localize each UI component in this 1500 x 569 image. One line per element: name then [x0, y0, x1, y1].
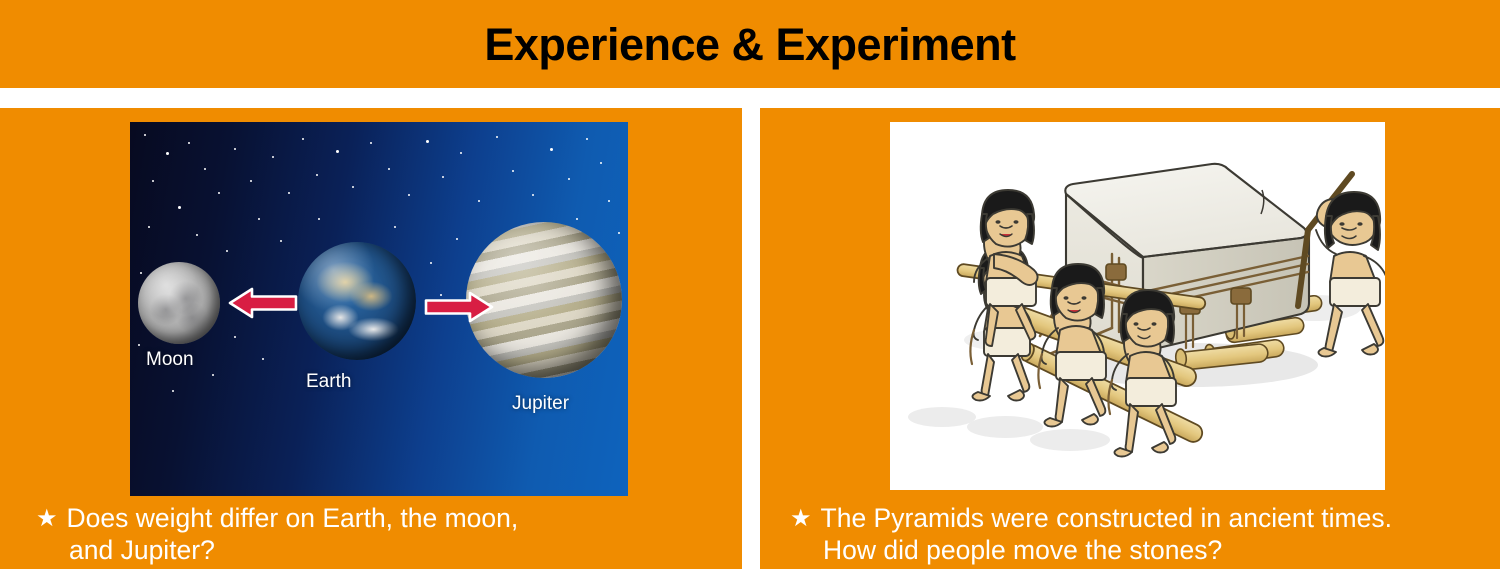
earth-to-moon-arrow [226, 284, 300, 322]
jupiter-label: Jupiter [512, 394, 569, 413]
pyramid-caption-line1: The Pyramids were constructed in ancient… [821, 503, 1392, 533]
moon-graphic [138, 262, 220, 344]
pyramid-caption: ★The Pyramids were constructed in ancien… [790, 502, 1480, 567]
space-caption-line1: Does weight differ on Earth, the moon, [67, 503, 519, 533]
space-caption-line2: and Jupiter? [69, 534, 215, 566]
star-bullet-icon: ★ [36, 504, 58, 533]
header-band: Experience & Experiment [0, 0, 1500, 88]
earth-graphic [298, 242, 416, 360]
pyramid-illustration [890, 122, 1385, 490]
earth-label: Earth [306, 372, 351, 391]
space-caption: ★Does weight differ on Earth, the moon, … [36, 502, 706, 567]
star-bullet-icon: ★ [790, 504, 812, 533]
space-panel: Moon Earth Jupiter ★Does weight differ o… [0, 108, 742, 569]
overseer-with-staff [1298, 174, 1385, 357]
slide-root: Experience & Experiment [0, 0, 1500, 569]
pyramid-panel: ★The Pyramids were constructed in ancien… [760, 108, 1500, 569]
earth-to-jupiter-arrow [422, 288, 496, 326]
pyramid-caption-line2: How did people move the stones? [823, 534, 1222, 566]
page-title: Experience & Experiment [484, 22, 1015, 67]
space-illustration: Moon Earth Jupiter [130, 122, 628, 496]
moon-label: Moon [146, 350, 194, 369]
pyramid-scene [890, 122, 1385, 490]
